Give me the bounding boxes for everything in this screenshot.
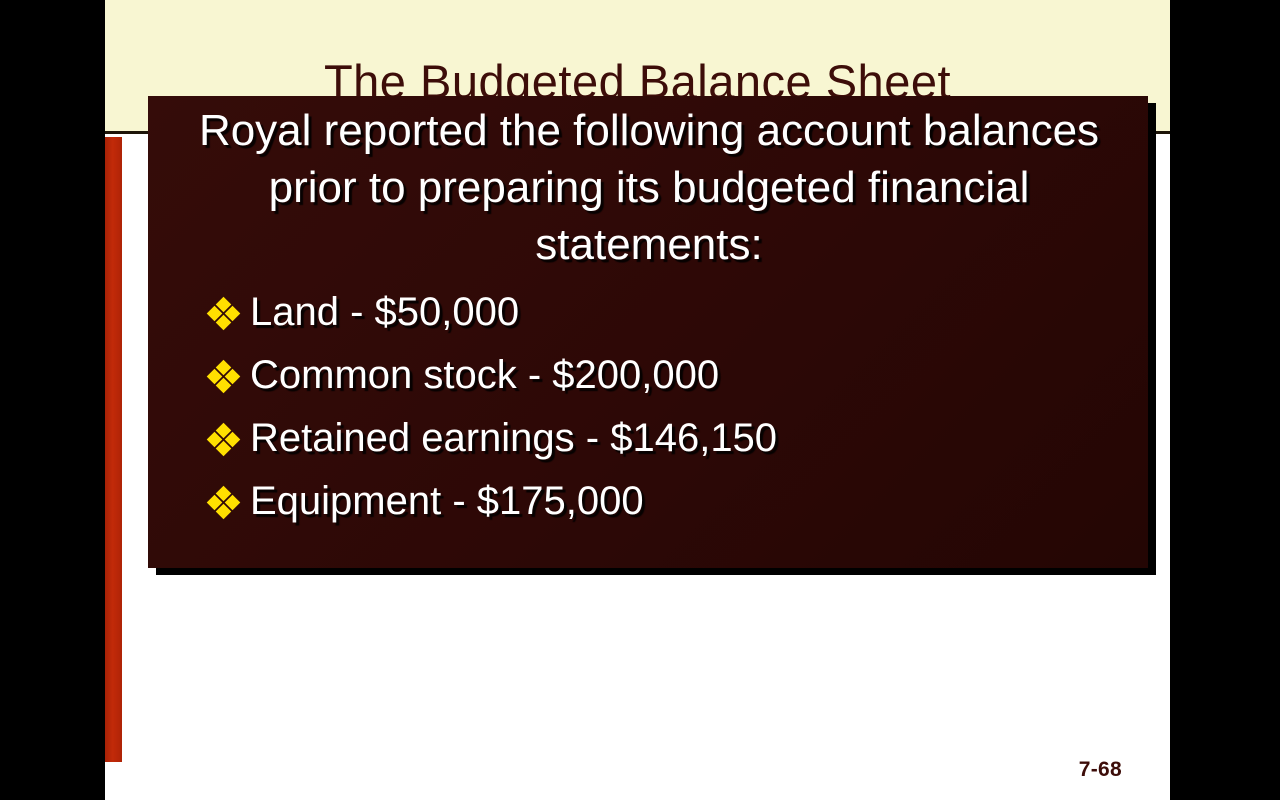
list-item-label: Equipment - $175,000: [250, 479, 644, 524]
list-item-label: Land - $50,000: [250, 290, 519, 335]
content-headline: Royal reported the following account bal…: [176, 102, 1122, 273]
content-box: Royal reported the following account bal…: [148, 96, 1148, 568]
diamond-cluster-bullet-icon: [206, 487, 250, 517]
diamond-cluster-bullet-icon: [206, 298, 250, 328]
diamond-cluster-bullet-icon: [206, 361, 250, 391]
account-balance-list: Land - $50,000 Common stock - $200,000 R…: [206, 281, 1128, 533]
slide-root: The Budgeted Balance Sheet Royal reporte…: [0, 0, 1280, 800]
diamond-cluster-bullet-icon: [206, 424, 250, 454]
page-number: 7-68: [1079, 758, 1122, 782]
letterbox-right: [1170, 0, 1280, 800]
list-item-label: Common stock - $200,000: [250, 353, 719, 398]
list-item: Retained earnings - $146,150: [206, 407, 1128, 470]
list-item: Land - $50,000: [206, 281, 1128, 344]
list-item: Equipment - $175,000: [206, 470, 1128, 533]
slide-canvas: The Budgeted Balance Sheet Royal reporte…: [105, 0, 1170, 800]
list-item-label: Retained earnings - $146,150: [250, 416, 777, 461]
list-item: Common stock - $200,000: [206, 344, 1128, 407]
left-accent-bar: [105, 137, 122, 762]
letterbox-left: [0, 0, 105, 800]
